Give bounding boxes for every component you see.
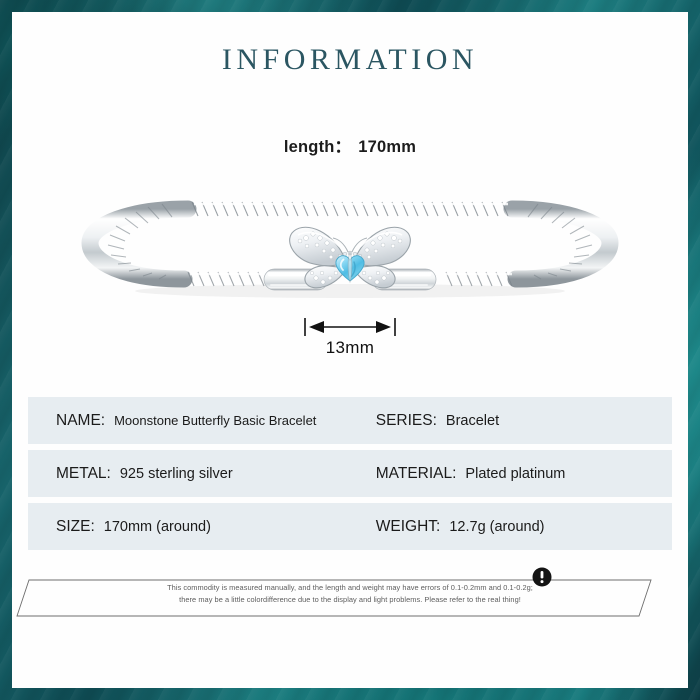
clasp-width-label: 13mm bbox=[12, 338, 688, 358]
length-key: length： bbox=[284, 138, 351, 156]
decorative-teal-frame: INFORMATION length：170mm bbox=[0, 0, 700, 700]
spec-cell-metal: METAL: 925 sterling silver bbox=[28, 465, 376, 483]
spec-key-size: SIZE: bbox=[56, 518, 95, 536]
disclaimer-text: This commodity is measured manually, and… bbox=[12, 582, 688, 605]
spec-key-weight: WEIGHT: bbox=[376, 518, 441, 536]
table-row: METAL: 925 sterling silver MATERIAL: Pla… bbox=[28, 450, 672, 497]
disclaimer-banner: This commodity is measured manually, and… bbox=[12, 564, 688, 632]
length-dimension-label: length：170mm bbox=[12, 133, 688, 157]
spec-value-weight: 12.7g (around) bbox=[449, 519, 544, 535]
spec-cell-material: MATERIAL: Plated platinum bbox=[376, 465, 672, 483]
spec-cell-name: NAME: Moonstone Butterfly Basic Bracelet bbox=[28, 412, 376, 430]
spec-key-metal: METAL: bbox=[56, 465, 111, 483]
spec-key-name: NAME: bbox=[56, 412, 105, 430]
spec-cell-weight: WEIGHT: 12.7g (around) bbox=[376, 518, 672, 536]
spec-value-name: Moonstone Butterfly Basic Bracelet bbox=[114, 413, 316, 428]
spec-value-metal: 925 sterling silver bbox=[120, 466, 233, 482]
spec-value-series: Bracelet bbox=[446, 413, 499, 429]
spec-cell-series: SERIES: Bracelet bbox=[376, 412, 672, 430]
product-image bbox=[12, 173, 688, 308]
spec-value-size: 170mm (around) bbox=[104, 519, 211, 535]
table-row: SIZE: 170mm (around) WEIGHT: 12.7g (arou… bbox=[28, 503, 672, 550]
table-row: NAME: Moonstone Butterfly Basic Bracelet… bbox=[28, 397, 672, 444]
bracelet-illustration bbox=[12, 173, 688, 308]
spec-cell-size: SIZE: 170mm (around) bbox=[28, 518, 376, 536]
spec-value-material: Plated platinum bbox=[465, 466, 565, 482]
butterfly-clasp-charm bbox=[290, 227, 411, 288]
spec-key-series: SERIES: bbox=[376, 412, 437, 430]
length-value: 170mm bbox=[358, 138, 416, 156]
clasp-width-measurement: 13mm bbox=[12, 312, 688, 374]
disclaimer-line-1: This commodity is measured manually, and… bbox=[92, 582, 608, 594]
specification-table: NAME: Moonstone Butterfly Basic Bracelet… bbox=[28, 397, 672, 550]
page-title: INFORMATION bbox=[12, 43, 688, 77]
information-card: INFORMATION length：170mm bbox=[12, 12, 688, 688]
disclaimer-line-2: there may be a little colordifference du… bbox=[92, 594, 608, 606]
spec-key-material: MATERIAL: bbox=[376, 465, 457, 483]
